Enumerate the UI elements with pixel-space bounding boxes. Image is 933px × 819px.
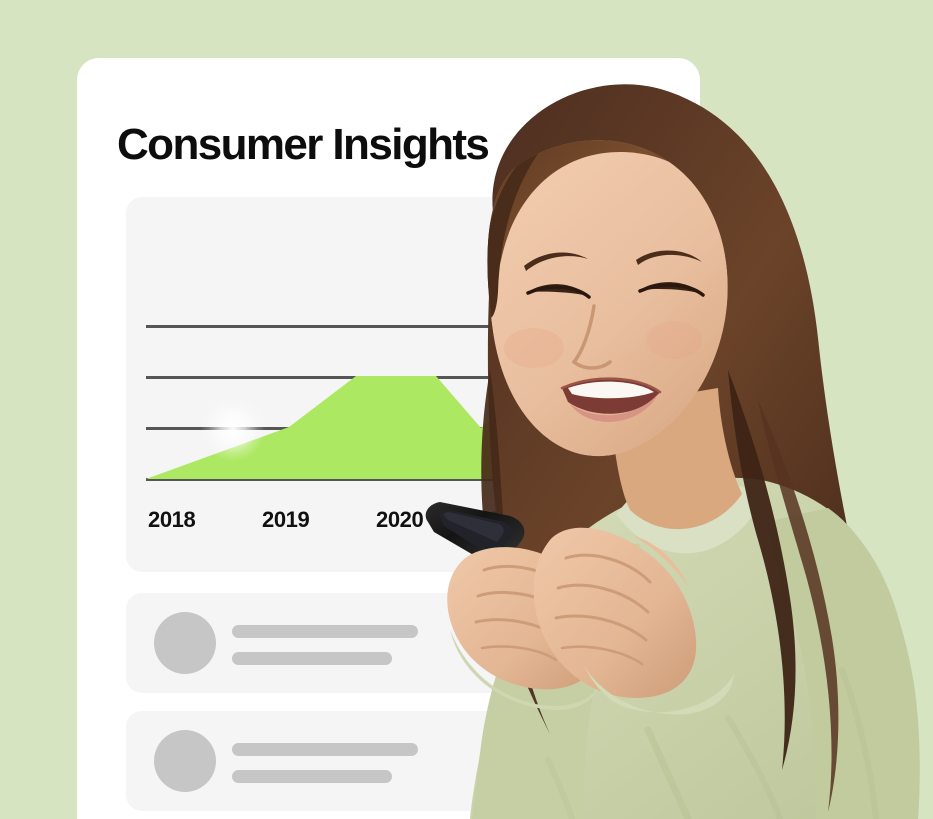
skeleton-line-secondary: [232, 770, 392, 783]
sweater-sleeve-right: [766, 508, 920, 819]
list-item[interactable]: [126, 593, 680, 693]
skeleton-line-secondary: [232, 652, 392, 665]
area-chart-series: [126, 197, 680, 497]
hair-strand-right-outer: [758, 400, 838, 812]
list-item[interactable]: [126, 711, 680, 811]
avatar: [154, 612, 216, 674]
avatar: [154, 730, 216, 792]
x-tick-2021: 2021: [488, 507, 535, 533]
skeleton-line-primary: [232, 743, 418, 756]
skeleton-list: [126, 593, 680, 819]
chart-plot-area: [126, 197, 680, 497]
page-title: Consumer Insights: [117, 120, 488, 170]
x-tick-2018: 2018: [148, 507, 195, 533]
app-card: Consumer Insights 2018 2019 2020 2021: [77, 58, 700, 819]
skeleton-line-primary: [232, 625, 418, 638]
hair-strand-right: [728, 370, 796, 770]
x-tick-2020: 2020: [376, 507, 423, 533]
x-axis: 2018 2019 2020 2021: [126, 497, 680, 557]
sweater-fold: [842, 670, 876, 819]
sweater-fold: [728, 718, 780, 819]
x-tick-2019: 2019: [262, 507, 309, 533]
chart-panel: 2018 2019 2020 2021: [126, 197, 680, 572]
